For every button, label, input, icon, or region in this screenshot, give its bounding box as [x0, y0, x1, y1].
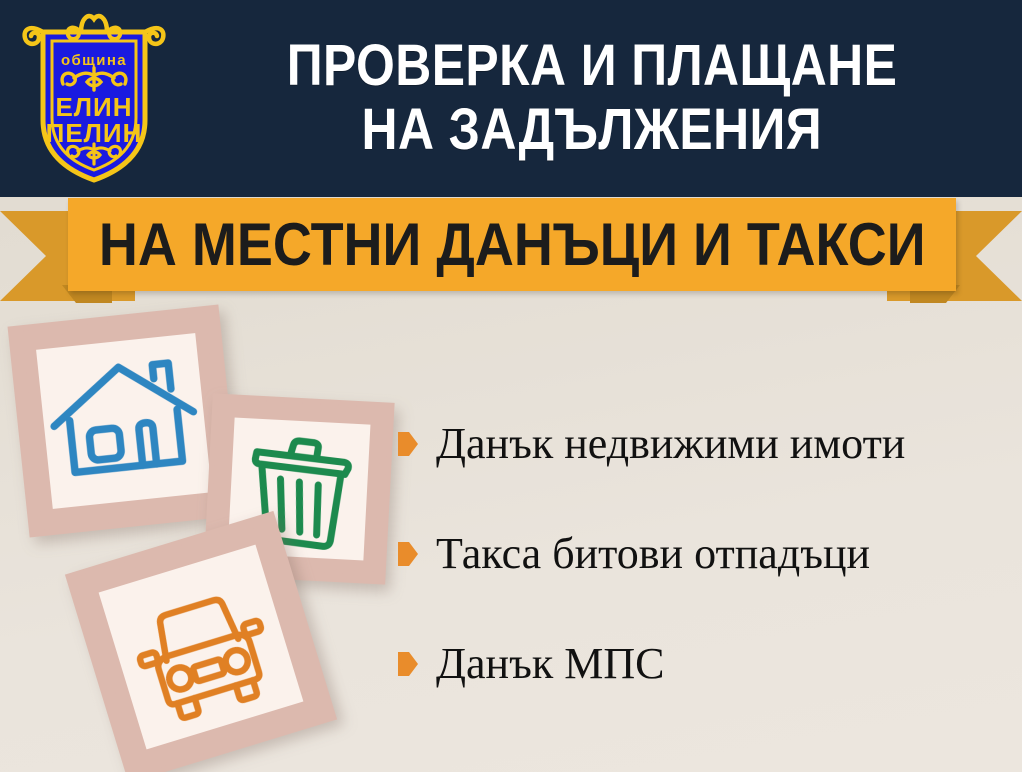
- arrow-bullet-icon: [398, 652, 418, 676]
- ribbon-label: НА МЕСТНИ ДАНЪЦИ И ТАКСИ: [99, 214, 926, 276]
- logo: община ЕЛИН ПЕЛИН: [0, 0, 188, 197]
- list-item[interactable]: Такса битови отпадъци: [398, 530, 1018, 578]
- subtitle-ribbon: НА МЕСТНИ ДАНЪЦИ И ТАКСИ: [0, 197, 1022, 303]
- header-title-group: ПРОВЕРКА И ПЛАЩАНЕ НА ЗАДЪЛЖЕНИЯ: [188, 34, 1022, 162]
- arrow-bullet-icon: [398, 432, 418, 456]
- ribbon-banner: НА МЕСТНИ ДАНЪЦИ И ТАКСИ: [68, 198, 956, 291]
- page-title-line1: ПРОВЕРКА И ПЛАЩАНЕ: [287, 34, 898, 98]
- list-item[interactable]: Данък недвижими имоти: [398, 420, 1018, 468]
- stamp-frame-house: [8, 305, 241, 538]
- poster-canvas: община ЕЛИН ПЕЛИН: [0, 0, 1022, 772]
- list-item-label: Данък недвижими имоти: [436, 420, 905, 468]
- tax-types-list: Данък недвижими имоти Такса битови отпад…: [398, 420, 1018, 688]
- property-stamp: [8, 305, 241, 538]
- header-bar: община ЕЛИН ПЕЛИН: [0, 0, 1022, 197]
- page-title-line2: НА ЗАДЪЛЖЕНИЯ: [362, 98, 823, 162]
- coat-of-arms-icon: община ЕЛИН ПЕЛИН: [19, 10, 169, 188]
- arrow-bullet-icon: [398, 542, 418, 566]
- list-item[interactable]: Данък МПС: [398, 640, 1018, 688]
- list-item-label: Такса битови отпадъци: [436, 530, 870, 578]
- list-item-label: Данък МПС: [436, 640, 664, 688]
